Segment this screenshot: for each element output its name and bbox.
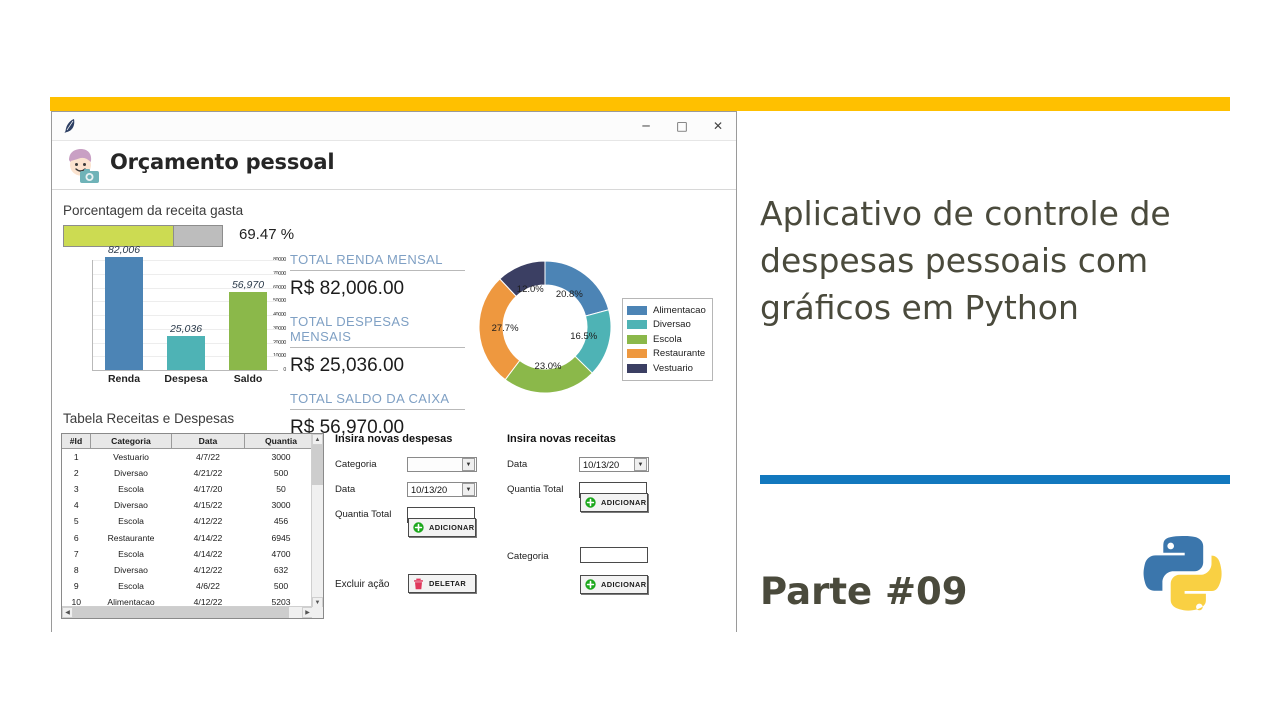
legend-item: Escola [627, 332, 706, 347]
vertical-scroll-thumb[interactable] [312, 445, 323, 485]
table-row[interactable]: 1Vestuario4/7/223000 [62, 449, 318, 465]
plus-circle-icon [585, 497, 596, 508]
legend-label: Vestuario [653, 363, 693, 374]
window-titlebar: ─ □ ✕ [52, 112, 736, 141]
table-cell: 4/14/22 [172, 529, 245, 545]
table-cell: 4/6/22 [172, 578, 245, 594]
income-add-button-1-label: ADICIONAR [601, 498, 646, 507]
table-cell: 6945 [245, 529, 318, 545]
table-row[interactable]: 4Diversao4/15/223000 [62, 497, 318, 513]
legend-label: Alimentacao [653, 305, 706, 316]
bar-chart-category-label: Despesa [158, 373, 214, 385]
table-cell: Escola [91, 513, 172, 529]
legend-swatch [627, 306, 647, 315]
legend-swatch [627, 349, 647, 358]
table-vertical-scrollbar[interactable]: ▲ ▼ [311, 434, 323, 608]
expenses-data-label: Data [335, 484, 355, 495]
feather-icon [62, 117, 78, 135]
donut-percent-label: 27.7% [489, 323, 521, 334]
bar-chart: 0100002000030000400005000060000700008000… [56, 256, 286, 396]
bar-chart-category-label: Renda [96, 373, 152, 385]
delete-button-label: DELETAR [429, 579, 466, 588]
promo-accent-bar [760, 475, 1230, 484]
scroll-left-arrow[interactable]: ◀ [62, 607, 73, 618]
income-data-label: Data [507, 459, 527, 470]
bar-chart-value-label: 56,970 [228, 279, 268, 291]
scrollbar-corner [312, 607, 323, 618]
total-expenses-label: TOTAL DESPESAS MENSAIS [290, 314, 465, 348]
table-cell: Escola [91, 481, 172, 497]
table-cell: 1 [62, 449, 91, 465]
table-row[interactable]: 8Diversao4/12/22632 [62, 562, 318, 578]
table-cell: 6 [62, 529, 91, 545]
promo-headline: Aplicativo de controle de despesas pesso… [760, 190, 1230, 331]
table-cell: 3000 [245, 449, 318, 465]
table-cell: 2 [62, 465, 91, 481]
table-cell: Restaurante [91, 529, 172, 545]
table-cell: 4/15/22 [172, 497, 245, 513]
python-logo [1135, 530, 1231, 626]
slide-root: ─ □ ✕ Orçamento pe [0, 0, 1280, 720]
app-body: Porcentagem da receita gasta 69.47 % 010… [52, 190, 736, 632]
delete-row-label: Excluir ação [335, 579, 389, 590]
maximize-button[interactable]: □ [664, 112, 700, 140]
table-header-row: #IdCategoriaDataQuantia [62, 434, 318, 449]
donut-chart-legend: AlimentacaoDiversaoEscolaRestauranteVest… [622, 298, 713, 381]
bar-chart-value-label: 82,006 [104, 244, 144, 256]
horizontal-scroll-thumb[interactable] [73, 607, 289, 618]
chevron-down-icon[interactable]: ▼ [462, 483, 475, 496]
donut-percent-label: 12.0% [514, 284, 546, 295]
table-column-header[interactable]: Data [172, 434, 245, 449]
expenses-form: Insira novas despesas Categoria ▼ Data 1… [335, 433, 485, 531]
table-column-header[interactable]: Quantia [245, 434, 318, 449]
minimize-button[interactable]: ─ [628, 112, 664, 140]
table-cell: Diversao [91, 497, 172, 513]
income-add-button-2[interactable]: ADICIONAR [580, 575, 648, 594]
expenses-categoria-select[interactable]: ▼ [407, 457, 477, 472]
trash-icon [413, 578, 424, 590]
table-row[interactable]: 6Restaurante4/14/226945 [62, 529, 318, 545]
income-data-picker[interactable]: 10/13/20 ▼ [579, 457, 649, 472]
bar-chart-value-label: 25,036 [166, 323, 206, 335]
table-cell: 632 [245, 562, 318, 578]
promo-part-label: Parte #09 [760, 570, 968, 613]
table-cell: 3000 [245, 497, 318, 513]
legend-label: Diversao [653, 319, 691, 330]
scroll-up-arrow[interactable]: ▲ [312, 434, 323, 445]
totals-panel: TOTAL RENDA MENSAL R$ 82,006.00 TOTAL DE… [290, 252, 465, 453]
table-row[interactable]: 5Escola4/12/22456 [62, 513, 318, 529]
table-cell: 50 [245, 481, 318, 497]
app-header: Orçamento pessoal [52, 141, 736, 190]
table-cell: Escola [91, 578, 172, 594]
table-cell: 500 [245, 578, 318, 594]
legend-item: Alimentacao [627, 303, 706, 318]
bar-chart-x-axis-line [92, 370, 278, 371]
expenses-quantia-label: Quantia Total [335, 509, 391, 520]
user-camera-avatar-icon [60, 144, 102, 186]
bar-chart-bar [229, 292, 267, 370]
table-cell: Vestuario [91, 449, 172, 465]
total-income-label: TOTAL RENDA MENSAL [290, 252, 465, 271]
page-title: Orçamento pessoal [110, 150, 334, 174]
table-horizontal-scrollbar[interactable]: ◀ ▶ [62, 606, 313, 618]
legend-swatch [627, 364, 647, 373]
expenses-data-row: Data 10/13/20 ▼ [335, 481, 485, 498]
table-cell: Escola [91, 546, 172, 562]
donut-chart: 20.8%16.5%23.0%27.7%12.0% AlimentacaoDiv… [470, 252, 730, 412]
table-cell: 3 [62, 481, 91, 497]
table-cell: 4700 [245, 546, 318, 562]
expenses-categoria-label: Categoria [335, 459, 377, 470]
legend-label: Escola [653, 334, 682, 345]
table-cell: Diversao [91, 465, 172, 481]
income-categoria-row: Categoria [507, 548, 549, 565]
chevron-down-icon[interactable]: ▼ [634, 458, 647, 471]
table-column-header[interactable]: Categoria [91, 434, 172, 449]
expenses-data-value: 10/13/20 [408, 485, 462, 495]
top-accent-bar [50, 97, 1230, 111]
table-cell: Diversao [91, 562, 172, 578]
donut-percent-label: 20.8% [553, 289, 585, 300]
table-row[interactable]: 7Escola4/14/224700 [62, 546, 318, 562]
income-categoria-input[interactable] [580, 547, 648, 563]
income-add-button-1[interactable]: ADICIONAR [580, 493, 648, 512]
expenses-add-button-label: ADICIONAR [429, 523, 474, 532]
progress-label: Porcentagem da receita gasta [63, 203, 243, 218]
table-cell: 7 [62, 546, 91, 562]
table-cell: 9 [62, 578, 91, 594]
progress-percent-text: 69.47 % [239, 226, 294, 243]
income-form-title: Insira novas receitas [507, 433, 657, 445]
legend-item: Restaurante [627, 347, 706, 362]
table-body: 1Vestuario4/7/2230002Diversao4/21/225003… [62, 449, 318, 611]
bar-chart-bar [105, 257, 143, 370]
delete-row: Excluir ação [335, 576, 389, 593]
table-cell: 4/12/22 [172, 513, 245, 529]
transactions-table: #IdCategoriaDataQuantia 1Vestuario4/7/22… [62, 434, 318, 611]
expenses-add-button[interactable]: ADICIONAR [408, 518, 476, 537]
table-row[interactable]: 9Escola4/6/22500 [62, 578, 318, 594]
table-cell: 5 [62, 513, 91, 529]
bar-chart-plot-area [93, 260, 279, 370]
income-add-button-2-label: ADICIONAR [601, 580, 646, 589]
expenses-categoria-row: Categoria ▼ [335, 456, 485, 473]
donut-percent-label: 23.0% [532, 361, 564, 372]
chevron-down-icon[interactable]: ▼ [462, 458, 475, 471]
donut-percent-label: 16.5% [568, 331, 600, 342]
total-income-value: R$ 82,006.00 [290, 278, 465, 300]
table-cell: 4 [62, 497, 91, 513]
income-quantia-label: Quantia Total [507, 484, 563, 495]
legend-swatch [627, 335, 647, 344]
table-row[interactable]: 3Escola4/17/2050 [62, 481, 318, 497]
income-data-row: Data 10/13/20 ▼ [507, 456, 657, 473]
table-row[interactable]: 2Diversao4/21/22500 [62, 465, 318, 481]
table-cell: 4/12/22 [172, 562, 245, 578]
total-balance-label: TOTAL SALDO DA CAIXA [290, 391, 465, 410]
table-cell: 4/17/20 [172, 481, 245, 497]
expenses-data-picker[interactable]: 10/13/20 ▼ [407, 482, 477, 497]
plus-circle-icon [585, 579, 596, 590]
income-categoria-label: Categoria [507, 551, 549, 562]
legend-item: Diversao [627, 318, 706, 333]
table-cell: 500 [245, 465, 318, 481]
bar-chart-bar [167, 336, 205, 370]
delete-button[interactable]: DELETAR [408, 574, 476, 593]
legend-label: Restaurante [653, 348, 705, 359]
total-expenses-value: R$ 25,036.00 [290, 355, 465, 377]
close-button[interactable]: ✕ [700, 112, 736, 140]
bar-chart-category-label: Saldo [220, 373, 276, 385]
legend-item: Vestuario [627, 361, 706, 376]
app-window: ─ □ ✕ Orçamento pe [51, 111, 737, 632]
table-cell: 4/14/22 [172, 546, 245, 562]
progress-fill [64, 226, 174, 246]
table-cell: 4/7/22 [172, 449, 245, 465]
window-controls: ─ □ ✕ [628, 112, 736, 140]
table-column-header[interactable]: #Id [62, 434, 91, 449]
legend-swatch [627, 320, 647, 329]
table-title: Tabela Receitas e Despesas [63, 411, 234, 426]
table-cell: 4/21/22 [172, 465, 245, 481]
table-cell: 456 [245, 513, 318, 529]
table-cell: 8 [62, 562, 91, 578]
income-form: Insira novas receitas Data 10/13/20 ▼ Qu… [507, 433, 657, 506]
income-data-value: 10/13/20 [580, 460, 634, 470]
plus-circle-icon [413, 522, 424, 533]
transactions-table-container: #IdCategoriaDataQuantia 1Vestuario4/7/22… [61, 433, 324, 619]
expenses-form-title: Insira novas despesas [335, 433, 485, 445]
